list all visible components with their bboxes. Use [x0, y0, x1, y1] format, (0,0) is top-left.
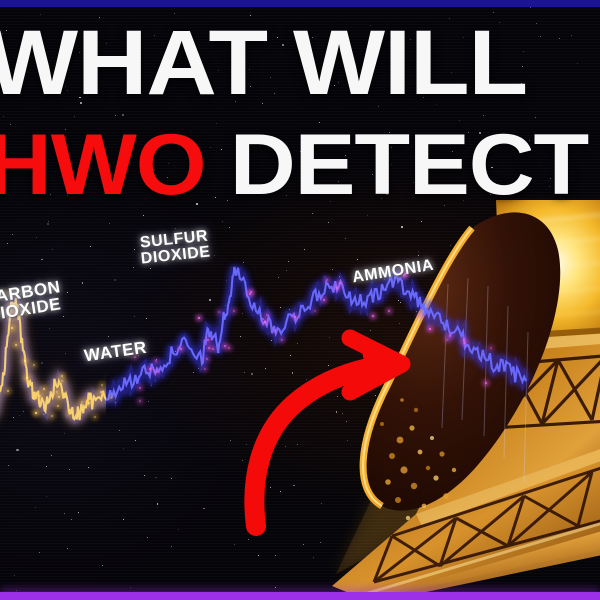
- thumbnail-canvas: CARBON DIOXIDE WATER SULFUR DIOXIDE AMMO…: [0, 0, 600, 600]
- red-curved-arrow: [250, 330, 430, 530]
- headline-line-2: HWO DETECT: [0, 126, 588, 205]
- headline-rest: DETECT: [206, 117, 589, 213]
- headline-line-1: WHAT WILL: [0, 21, 527, 106]
- bottom-accent-bar: [0, 592, 600, 600]
- top-accent-bar: [0, 0, 600, 7]
- headline-highlight: HWO: [0, 117, 206, 213]
